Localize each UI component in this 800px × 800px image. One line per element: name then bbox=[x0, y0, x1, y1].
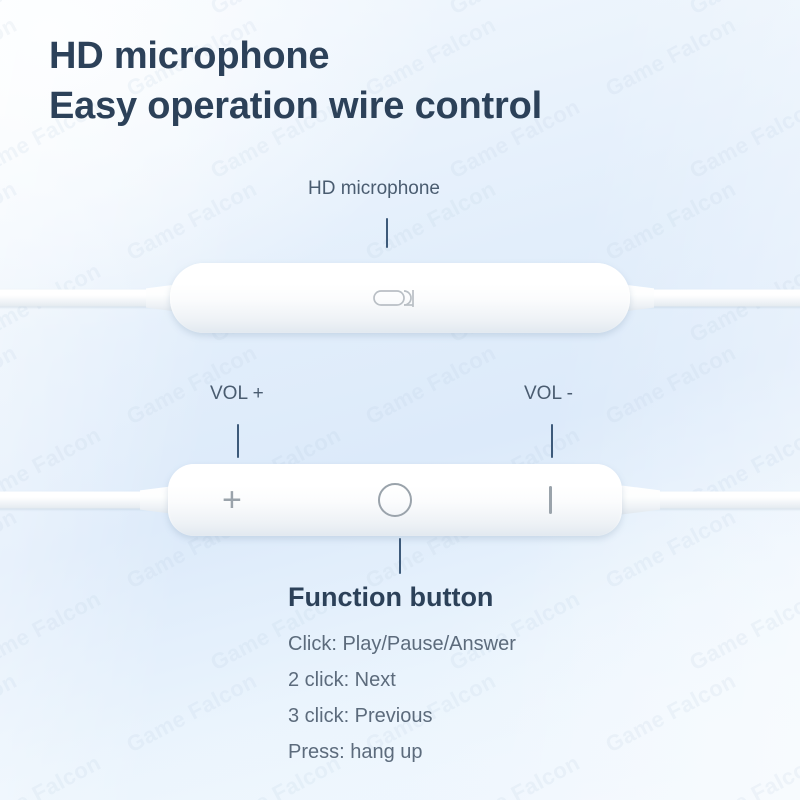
cable-collar-right-lower bbox=[618, 485, 660, 515]
instruction-line: 2 click: Next bbox=[288, 662, 516, 698]
plus-icon[interactable]: + bbox=[222, 483, 242, 517]
callout-label-volume-down: VOL - bbox=[524, 383, 573, 405]
leader-line-microphone bbox=[386, 218, 388, 248]
callout-label-microphone: HD microphone bbox=[308, 178, 440, 200]
product-infographic: Game FalconGame FalconGame FalconGame Fa… bbox=[0, 0, 800, 800]
callout-label-volume-up: VOL + bbox=[210, 383, 264, 405]
lower-control-assembly: + bbox=[0, 452, 800, 548]
instruction-line: Click: Play/Pause/Answer bbox=[288, 626, 516, 662]
circle-icon[interactable] bbox=[378, 483, 412, 517]
upper-control-assembly bbox=[0, 248, 800, 348]
minus-icon[interactable] bbox=[549, 486, 552, 514]
page-title: HD microphone Easy operation wire contro… bbox=[49, 31, 749, 131]
leader-line-function-button bbox=[399, 538, 401, 574]
page-title-line1: HD microphone bbox=[49, 35, 329, 77]
function-button-instructions: Click: Play/Pause/Answer 2 click: Next 3… bbox=[288, 626, 516, 770]
microphone-icon bbox=[372, 285, 428, 311]
function-button-title: Function button bbox=[288, 582, 493, 613]
instruction-line: Press: hang up bbox=[288, 734, 516, 770]
microphone-module bbox=[170, 263, 630, 333]
instruction-line: 3 click: Previous bbox=[288, 698, 516, 734]
page-title-line2: Easy operation wire control bbox=[49, 81, 749, 131]
